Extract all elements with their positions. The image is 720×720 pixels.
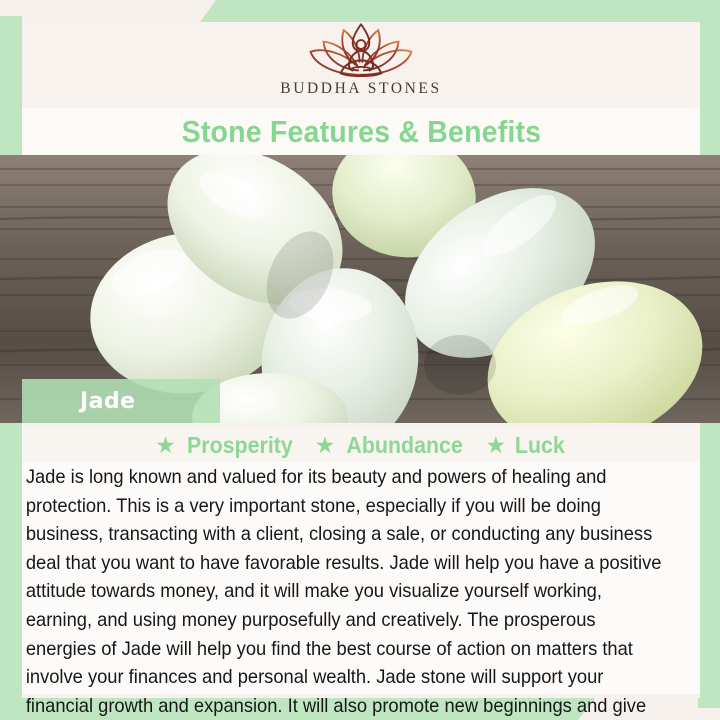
keyword-label-prosperity: Prosperity — [187, 432, 293, 459]
photo-caption: Jade — [80, 389, 135, 414]
brand-header: BUDDHA STONES — [22, 22, 700, 108]
brand-name: BUDDHA STONES — [280, 80, 441, 98]
keyword-item: ★ Abundance — [315, 432, 468, 459]
description-panel: Jade is long known and valued for its be… — [22, 462, 700, 694]
keyword-row: ★ Prosperity ★ Abundance ★ Luck — [22, 428, 700, 462]
frame-top-bar — [200, 0, 720, 22]
star-icon: ★ — [485, 434, 506, 457]
photo-caption-band: Jade — [22, 379, 220, 423]
star-icon: ★ — [315, 434, 336, 457]
keyword-item: ★ Prosperity — [155, 432, 296, 459]
infographic-page: BUDDHA STONES Stone Features & Benefits — [0, 0, 720, 720]
description-text: Jade is long known and valued for its be… — [22, 462, 669, 720]
keyword-label-abundance: Abundance — [347, 432, 463, 459]
keyword-item: ★ Luck — [485, 432, 566, 459]
star-icon: ★ — [155, 434, 176, 457]
page-title: Stone Features & Benefits — [181, 114, 541, 150]
title-banner: Stone Features & Benefits — [22, 108, 700, 155]
keyword-label-luck: Luck — [515, 432, 565, 459]
lotus-meditation-icon — [302, 20, 420, 82]
